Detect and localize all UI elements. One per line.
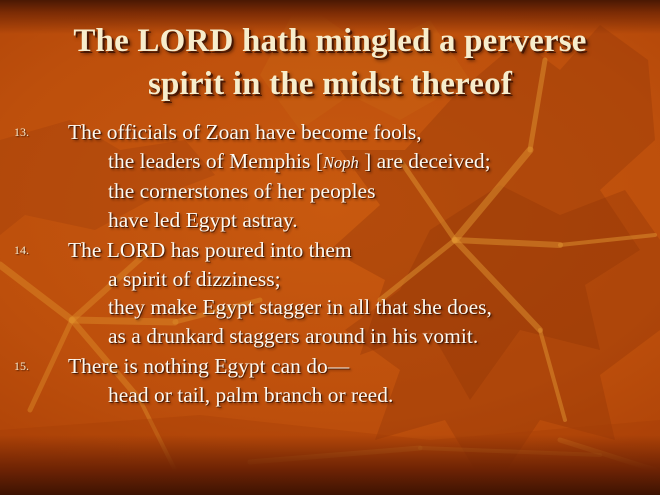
verse-block: 15.There is nothing Egypt can do—head or…	[0, 352, 660, 409]
verse-line: the cornerstones of her peoples	[0, 177, 660, 206]
verse-line: head or tail, palm branch or reed.	[0, 381, 660, 410]
verse-line-text: ] are deceived;	[359, 149, 491, 173]
presentation-slide: The LORD hath mingled a perverse spirit …	[0, 0, 660, 495]
verse-line: The officials of Zoan have become fools,	[0, 118, 660, 147]
verse-number: 14.	[14, 243, 29, 258]
verse-line: There is nothing Egypt can do—	[0, 352, 660, 381]
slide-title-line-2: spirit in the midst thereof	[28, 63, 632, 106]
verse-lines: There is nothing Egypt can do—head or ta…	[0, 352, 660, 409]
alternate-name-annotation: Noph	[323, 153, 359, 172]
verse-lines: The officials of Zoan have become fools,…	[0, 118, 660, 234]
verse-line: the leaders of Memphis [Noph ] are decei…	[0, 147, 660, 178]
verse-line: as a drunkard staggers around in his vom…	[0, 322, 660, 351]
slide-body: 13.The officials of Zoan have become foo…	[0, 118, 660, 411]
verse-line: a spirit of dizziness;	[0, 265, 660, 294]
verse-number: 15.	[14, 359, 29, 374]
verse-block: 14.The LORD has poured into thema spirit…	[0, 236, 660, 350]
verse-lines: The LORD has poured into thema spirit of…	[0, 236, 660, 350]
verse-number: 13.	[14, 125, 29, 140]
slide-title: The LORD hath mingled a perverse spirit …	[28, 20, 632, 106]
slide-title-line-1: The LORD hath mingled a perverse	[28, 20, 632, 63]
verse-line: they make Egypt stagger in all that she …	[0, 293, 660, 322]
verse-block: 13.The officials of Zoan have become foo…	[0, 118, 660, 234]
verse-line: The LORD has poured into them	[0, 236, 660, 265]
bottom-edge-shading	[0, 435, 660, 495]
verse-line: have led Egypt astray.	[0, 206, 660, 235]
verse-line-text: the leaders of Memphis [	[108, 149, 323, 173]
